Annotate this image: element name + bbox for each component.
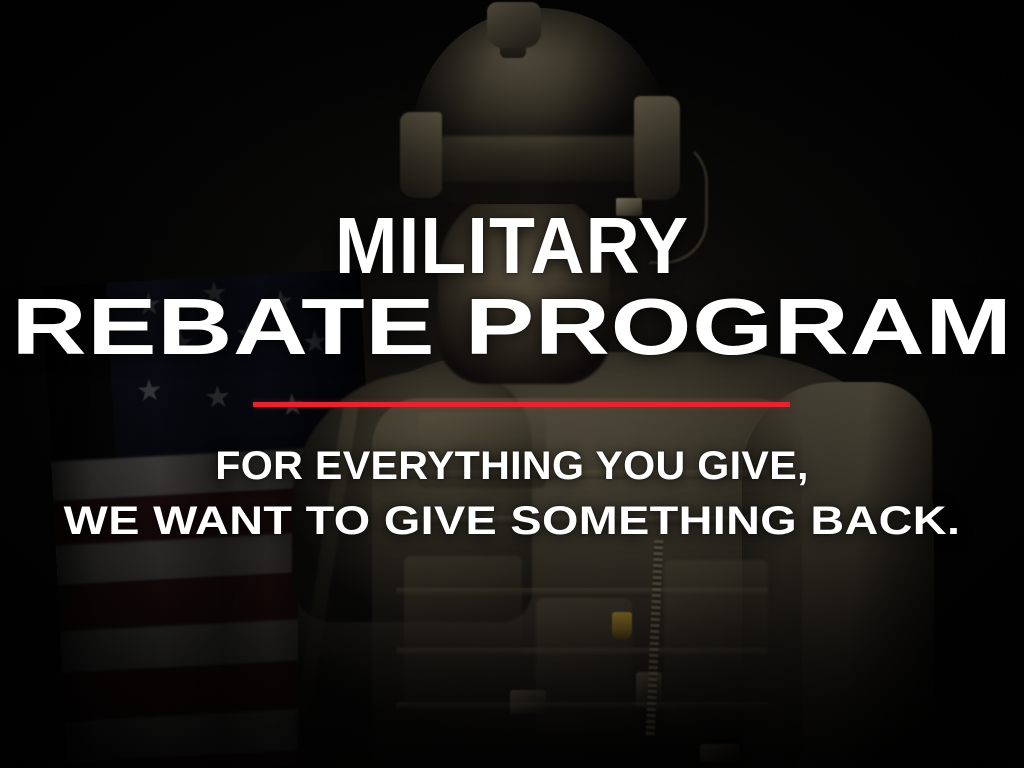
headline-line-1: MILITARY (31, 208, 994, 285)
text-overlay: MILITARY REBATE PROGRAM FOR EVERYTHING Y… (0, 0, 1024, 768)
subheadline-block: FOR EVERYTHING YOU GIVE, WE WANT TO GIVE… (0, 444, 1024, 544)
subheadline-line-1: FOR EVERYTHING YOU GIVE, (0, 444, 1024, 489)
military-rebate-poster: ★ ★ ★ ★ ★ ★ ★ ★ ★ (0, 0, 1024, 768)
subheadline-line-2: WE WANT TO GIVE SOMETHING BACK. (0, 499, 1024, 544)
red-divider-rule (253, 402, 790, 407)
headline-block: MILITARY REBATE PROGRAM (0, 208, 1024, 366)
headline-line-2: REBATE PROGRAM (0, 289, 1024, 366)
